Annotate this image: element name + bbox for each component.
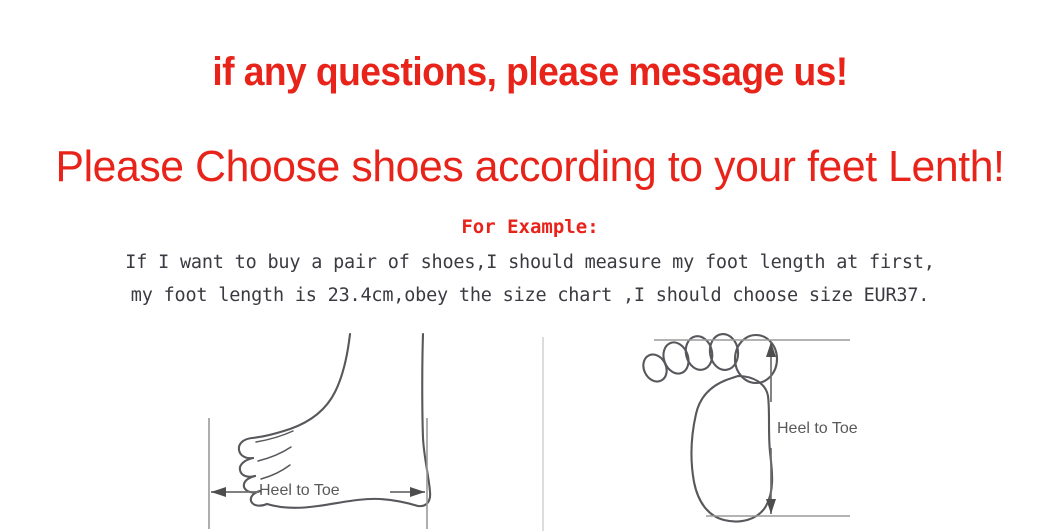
foot-sole-outline [639, 332, 777, 521]
side-view-dimension-label: Heel to Toe [259, 481, 340, 501]
for-example-label: For Example: [0, 214, 1060, 240]
example-text-line-2: my foot length is 23.4cm,obey the size c… [0, 281, 1060, 311]
panel-divider [542, 337, 544, 531]
headline-choose-by-length: Please Choose shoes according to your fe… [16, 140, 1044, 194]
example-text-line-1: If I want to buy a pair of shoes,I shoul… [0, 248, 1060, 278]
headline-contact-us: if any questions, please message us! [37, 48, 1023, 96]
sole-view-dimension-label: Heel to Toe [777, 419, 858, 439]
size-guide-banner: if any questions, please message us! Ple… [0, 0, 1060, 531]
